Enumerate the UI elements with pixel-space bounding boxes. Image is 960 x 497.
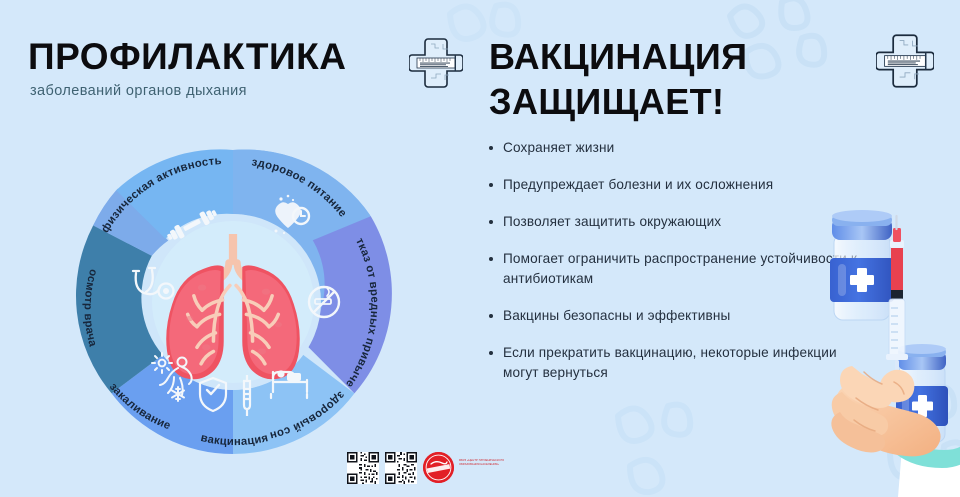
list-item-label: Сохраняет жизни bbox=[503, 138, 614, 158]
bullet-dot-icon bbox=[489, 351, 493, 355]
list-item-label: Позволяет защитить окружающих bbox=[503, 212, 721, 232]
qr-code-2[interactable] bbox=[385, 452, 417, 484]
bullet-dot-icon bbox=[489, 257, 493, 261]
bullet-dot-icon bbox=[489, 146, 493, 150]
page-title-left: ПРОФИЛАКТИКА bbox=[28, 36, 346, 78]
medical-cross-logo-icon bbox=[409, 36, 463, 90]
page-title-right: ВАКЦИНАЦИЯ ЗАЩИЩАЕТ! bbox=[489, 34, 747, 124]
bullet-dot-icon bbox=[489, 183, 493, 187]
prevention-wheel: здоровое питание отказ от вредных привыч… bbox=[58, 112, 408, 482]
list-item: Сохраняет жизни bbox=[489, 138, 874, 158]
virus-watermark-icon bbox=[600, 392, 730, 497]
stamp-caption-line2: ОБРАЗОВАНИЯ НАСЕЛЕНИЯ» bbox=[459, 463, 505, 467]
bullet-dot-icon bbox=[489, 220, 493, 224]
list-item-label: Предупреждает болезни и их осложнения bbox=[503, 175, 773, 195]
red-round-stamp-logo bbox=[423, 452, 454, 483]
hand-with-syringe-and-vials-illustration bbox=[806, 196, 960, 497]
list-item: Предупреждает болезни и их осложнения bbox=[489, 175, 874, 195]
page-title-right-line2: ЗАЩИЩАЕТ! bbox=[489, 79, 747, 124]
page-subtitle-left: заболеваний органов дыхания bbox=[30, 83, 247, 99]
stamp-caption: ФБУЗ «ЦЕНТР ГИГИЕНИЧЕСКОГО ОБРАЗОВАНИЯ Н… bbox=[459, 459, 505, 468]
vaccine-vial-large-icon bbox=[830, 210, 894, 320]
page-title-right-line1: ВАКЦИНАЦИЯ bbox=[489, 36, 747, 77]
poster-canvas: ПРОФИЛАКТИКА заболеваний органов дыхания… bbox=[0, 0, 960, 497]
qr-code-1[interactable] bbox=[347, 452, 379, 484]
list-item-label: Вакцины безопасны и эффективны bbox=[503, 306, 730, 326]
bullet-dot-icon bbox=[489, 314, 493, 318]
medical-cross-logo-icon bbox=[876, 32, 934, 90]
